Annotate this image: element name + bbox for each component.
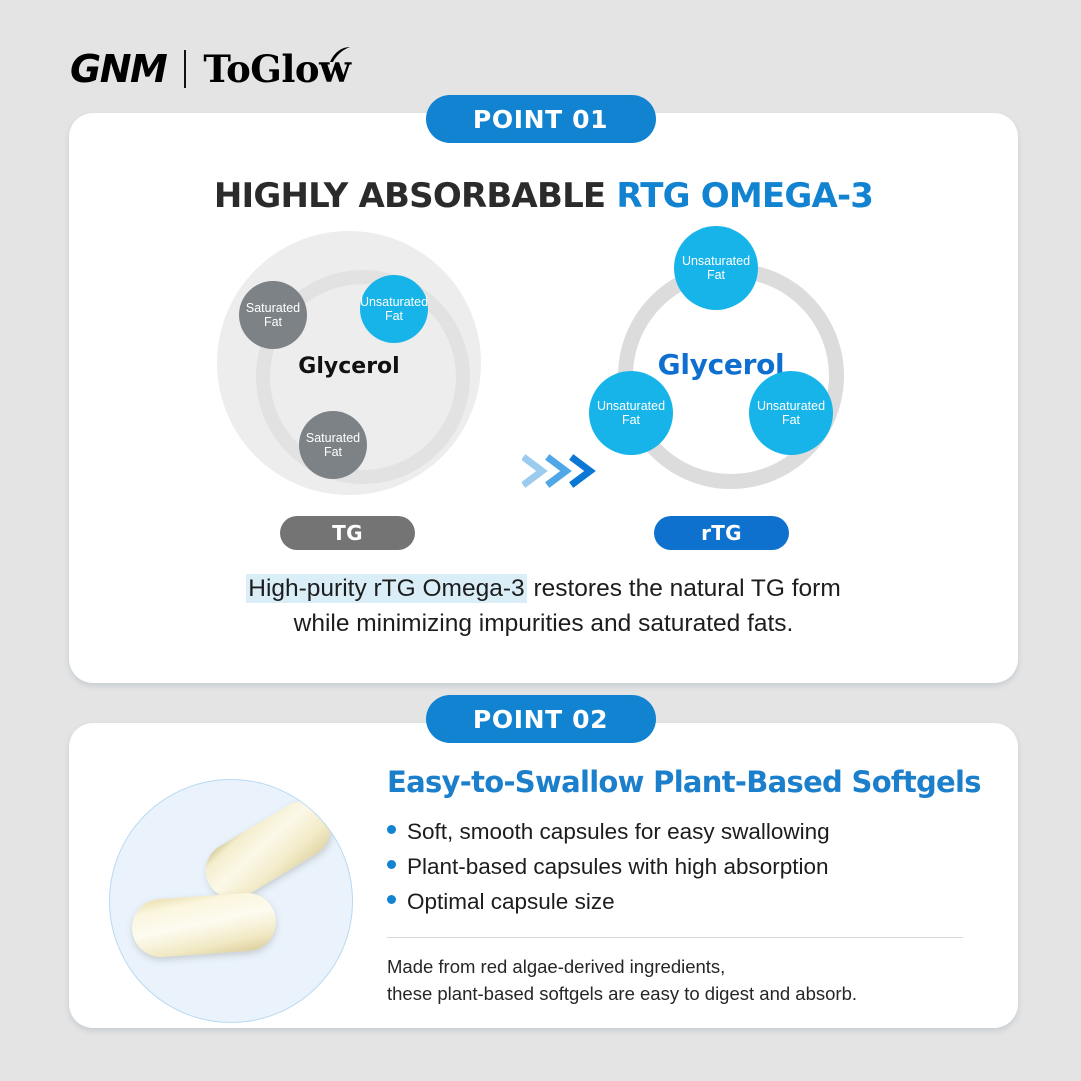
bullet-dot-icon (387, 895, 396, 904)
node-label-line2: Fat (707, 268, 725, 282)
bullet-text: Optimal capsule size (407, 885, 615, 920)
node-label-line2: Fat (622, 413, 640, 427)
node-label-line1: Saturated (306, 431, 360, 445)
point-02-badge: POINT 02 (426, 695, 656, 743)
softgel-capsules-image (109, 779, 353, 1023)
node-label-line2: Fat (385, 309, 403, 323)
tg-center-label: Glycerol (199, 356, 499, 378)
footnote-line-2: these plant-based softgels are easy to d… (387, 980, 963, 1007)
node-label-line1: Unsaturated (757, 399, 825, 413)
point-02-title: Easy-to-Swallow Plant-Based Softgels (387, 767, 963, 799)
brand-divider (184, 50, 186, 88)
capsule-front (130, 891, 278, 959)
brand-logo: GNM ToGlow (70, 46, 350, 92)
point-01-headline: HIGHLY ABSORBABLE RTG OMEGA-3 (69, 176, 1018, 216)
bullet-text: Soft, smooth capsules for easy swallowin… (407, 815, 830, 850)
capsule-back (195, 791, 340, 909)
headline-dark-text: HIGHLY ABSORBABLE (214, 176, 606, 216)
tg-type-pill: TG (280, 516, 415, 550)
caption-rest: restores the natural TG form (527, 575, 841, 602)
rtg-type-pill: rTG (654, 516, 789, 550)
point-01-caption: High-purity rTG Omega-3 restores the nat… (69, 572, 1018, 642)
tg-node-unsaturated: Unsaturated Fat (360, 275, 428, 343)
point-02-card: Easy-to-Swallow Plant-Based Softgels Sof… (69, 723, 1018, 1028)
rtg-node-unsaturated-left: Unsaturated Fat (589, 371, 673, 455)
tg-node-saturated-left: Saturated Fat (239, 281, 307, 349)
list-item: Optimal capsule size (387, 885, 963, 920)
point-01-badge: POINT 01 (426, 95, 656, 143)
point-02-bullet-list: Soft, smooth capsules for easy swallowin… (387, 815, 963, 920)
node-label-line1: Unsaturated (597, 399, 665, 413)
caption-line-1: High-purity rTG Omega-3 restores the nat… (69, 572, 1018, 607)
node-label-line2: Fat (324, 445, 342, 459)
brand-mark: GNM (70, 50, 168, 88)
bullet-text: Plant-based capsules with high absorptio… (407, 850, 829, 885)
content-divider (387, 937, 963, 938)
caption-line-2: while minimizing impurities and saturate… (69, 607, 1018, 642)
node-label-line1: Unsaturated (360, 295, 428, 309)
bullet-dot-icon (387, 825, 396, 834)
node-label-line1: Unsaturated (682, 254, 750, 268)
rtg-diagram: Glycerol Unsaturated Fat Unsaturated Fat… (571, 226, 871, 526)
footnote-line-1: Made from red algae-derived ingredients, (387, 953, 963, 980)
point-02-content: Easy-to-Swallow Plant-Based Softgels Sof… (387, 767, 963, 1007)
tg-diagram: Glycerol Saturated Fat Unsaturated Fat S… (199, 226, 499, 526)
bullet-dot-icon (387, 860, 396, 869)
headline-blue-text: RTG OMEGA-3 (616, 176, 873, 216)
node-label-line1: Saturated (246, 301, 300, 315)
point-01-card: HIGHLY ABSORBABLE RTG OMEGA-3 Glycerol S… (69, 113, 1018, 683)
caption-highlight: High-purity rTG Omega-3 (246, 574, 526, 603)
product-name: ToGlow (203, 51, 350, 88)
tg-node-saturated-bottom: Saturated Fat (299, 411, 367, 479)
list-item: Soft, smooth capsules for easy swallowin… (387, 815, 963, 850)
tg-rtg-comparison: Glycerol Saturated Fat Unsaturated Fat S… (69, 226, 1018, 536)
promo-page: GNM ToGlow POINT 01 HIGHLY ABSORBABLE RT… (0, 0, 1081, 1081)
rtg-node-unsaturated-right: Unsaturated Fat (749, 371, 833, 455)
rtg-node-unsaturated-top: Unsaturated Fat (674, 226, 758, 310)
list-item: Plant-based capsules with high absorptio… (387, 850, 963, 885)
node-label-line2: Fat (782, 413, 800, 427)
point-02-footnote: Made from red algae-derived ingredients,… (387, 953, 963, 1008)
node-label-line2: Fat (264, 315, 282, 329)
